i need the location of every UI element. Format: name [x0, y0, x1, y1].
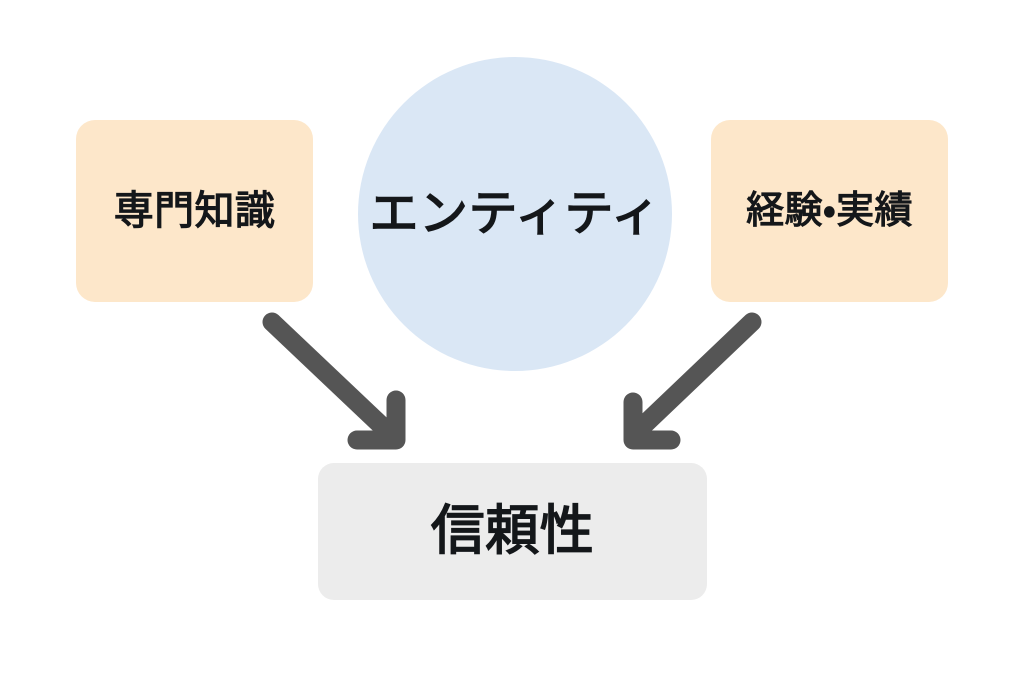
arrow-experience-to-credibility [633, 322, 752, 440]
node-entity[interactable]: エンティティ [358, 57, 672, 371]
arrowhead-icon [633, 402, 671, 440]
node-experience[interactable]: 経験・実績 [711, 120, 948, 302]
node-credibility[interactable]: 信頼性 [318, 463, 707, 600]
diagram-canvas: エンティティ 専門知識 経験・実績 信頼性 [0, 0, 1024, 683]
node-credibility-label: 信頼性 [431, 500, 595, 562]
node-entity-label: エンティティ [369, 186, 660, 242]
node-expertise[interactable]: 専門知識 [76, 120, 313, 302]
arrow-shaft [645, 322, 752, 424]
node-experience-label: 経験・実績 [746, 189, 913, 233]
node-expertise-label: 専門知識 [114, 188, 276, 234]
arrow-expertise-to-credibility [272, 322, 396, 440]
arrow-shaft [272, 322, 386, 430]
arrowhead-icon [357, 400, 396, 440]
